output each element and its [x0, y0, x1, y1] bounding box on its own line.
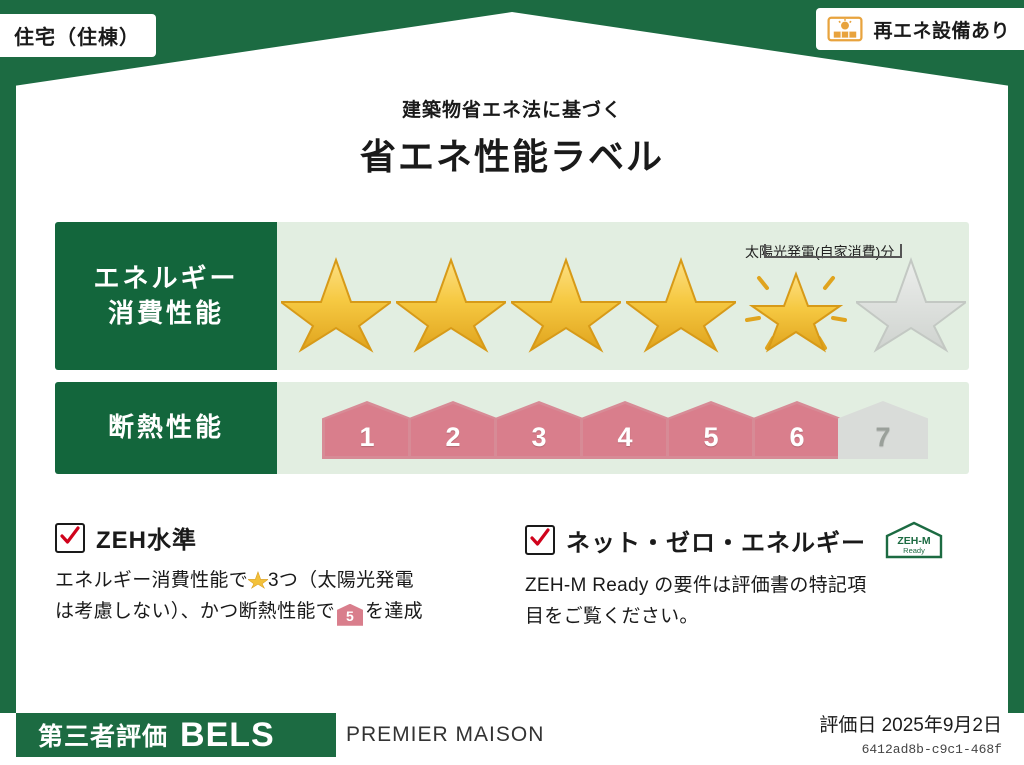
check-text-zeh-part4: を達成: [365, 601, 423, 622]
insulation-level-value: 4: [617, 422, 632, 453]
insulation-level-value: 7: [875, 422, 890, 453]
check-text-zeh-part2: 3つ（太陽光発電: [268, 570, 414, 591]
footer-eval-id: 6412ad8b-c9c1-468f: [862, 742, 1002, 757]
row-energy-body: 太陽光発電(自家消費)分: [277, 222, 969, 370]
footer-bels-block: 第三者評価 BELS: [16, 713, 336, 757]
star-icon: [626, 250, 736, 356]
insulation-level-value: 5: [703, 422, 718, 453]
insulation-chip-inline: 5: [337, 604, 363, 626]
star-icon-solar: [741, 250, 851, 356]
check-text-zeh: エネルギー消費性能で3つ（太陽光発電 は考慮しない）、かつ断熱性能で5を達成: [55, 566, 495, 628]
check-text-net-zero: ZEH-M Ready の要件は評価書の特記項 目をご覧ください。: [525, 571, 970, 633]
page-title: 省エネ性能ラベル: [0, 128, 1024, 180]
insulation-level-chip: 4: [580, 401, 670, 459]
check-title-zeh: ZEH水準: [96, 520, 197, 555]
footer-third-party-label: 第三者評価: [38, 717, 168, 753]
row-energy-performance: エネルギー 消費性能 太陽光発電(自家消費)分: [55, 222, 969, 370]
row-energy-label: エネルギー 消費性能: [55, 222, 277, 370]
insulation-level-chip-inactive: 7: [838, 401, 928, 459]
label-root: 住宅（住棟） 再エネ設備あり 建築物省エネ法に基づく 省エネ性能ラベル エネルギ…: [0, 0, 1024, 765]
check-block-net-zero: ネット・ゼロ・エネルギー ZEH-M Ready ZEH-M Ready の要件…: [525, 520, 970, 633]
row-insulation-label: 断熱性能: [55, 382, 277, 474]
check-icon: [58, 524, 82, 548]
star-icon: [281, 250, 391, 356]
row-energy-label-line1: エネルギー: [93, 261, 238, 296]
badge-renewable-energy: 再エネ設備あり: [814, 6, 1024, 52]
insulation-level-chip: 5: [666, 401, 756, 459]
footer-eval-date: 評価日 2025年9月2日: [819, 710, 1002, 737]
insulation-level-chip: 2: [408, 401, 498, 459]
check-text-net-zero-line1: ZEH-M Ready の要件は評価書の特記項: [525, 575, 867, 596]
row-insulation-performance: 断熱性能 1 2 3 4 5 6 7: [55, 382, 969, 474]
star-icon-empty: [856, 250, 966, 356]
check-head-zeh: ZEH水準: [55, 520, 495, 555]
checkbox-zeh[interactable]: [55, 523, 85, 553]
zeh-m-ready-badge: ZEH-M Ready: [883, 520, 945, 560]
row-energy-label-line2: 消費性能: [108, 296, 224, 331]
insulation-level-value: 1: [359, 422, 374, 453]
badge-renewable-energy-label: 再エネ設備あり: [873, 16, 1010, 43]
insulation-level-chip: 6: [752, 401, 842, 459]
checkbox-net-zero[interactable]: [525, 525, 555, 555]
svg-text:Ready: Ready: [903, 546, 925, 555]
insulation-level-chip: 3: [494, 401, 584, 459]
badge-housing-type: 住宅（住棟）: [0, 12, 158, 59]
check-title-net-zero: ネット・ゼロ・エネルギー: [566, 523, 866, 558]
star-icon: [396, 250, 506, 356]
insulation-level-value: 2: [445, 422, 460, 453]
star-icon-inline: [248, 569, 268, 589]
solar-panel-icon: [826, 14, 864, 44]
check-text-net-zero-line2: 目をご覧ください。: [525, 606, 699, 627]
badge-housing-type-label: 住宅（住棟）: [14, 27, 140, 49]
insulation-level-value: 6: [789, 422, 804, 453]
insulation-level-chip: 1: [322, 401, 412, 459]
footer-property-name: PREMIER MAISON: [346, 723, 544, 747]
check-head-net-zero: ネット・ゼロ・エネルギー ZEH-M Ready: [525, 520, 970, 560]
footer-bels-label: BELS: [180, 716, 275, 755]
star-icon: [511, 250, 621, 356]
row-insulation-body: 1 2 3 4 5 6 7: [277, 382, 969, 474]
star-rating: [277, 222, 969, 370]
footer: 第三者評価 BELS PREMIER MAISON 評価日 2025年9月2日 …: [0, 713, 1024, 765]
check-block-zeh: ZEH水準 エネルギー消費性能で3つ（太陽光発電 は考慮しない）、かつ断熱性能で…: [55, 520, 495, 628]
subtitle-law: 建築物省エネ法に基づく: [0, 95, 1024, 122]
insulation-level-scale: 1 2 3 4 5 6 7: [277, 382, 969, 474]
insulation-level-value: 3: [531, 422, 546, 453]
check-text-zeh-part3: は考慮しない）、かつ断熱性能で: [55, 601, 335, 622]
check-icon: [528, 526, 552, 550]
check-text-zeh-part1: エネルギー消費性能で: [55, 570, 248, 591]
